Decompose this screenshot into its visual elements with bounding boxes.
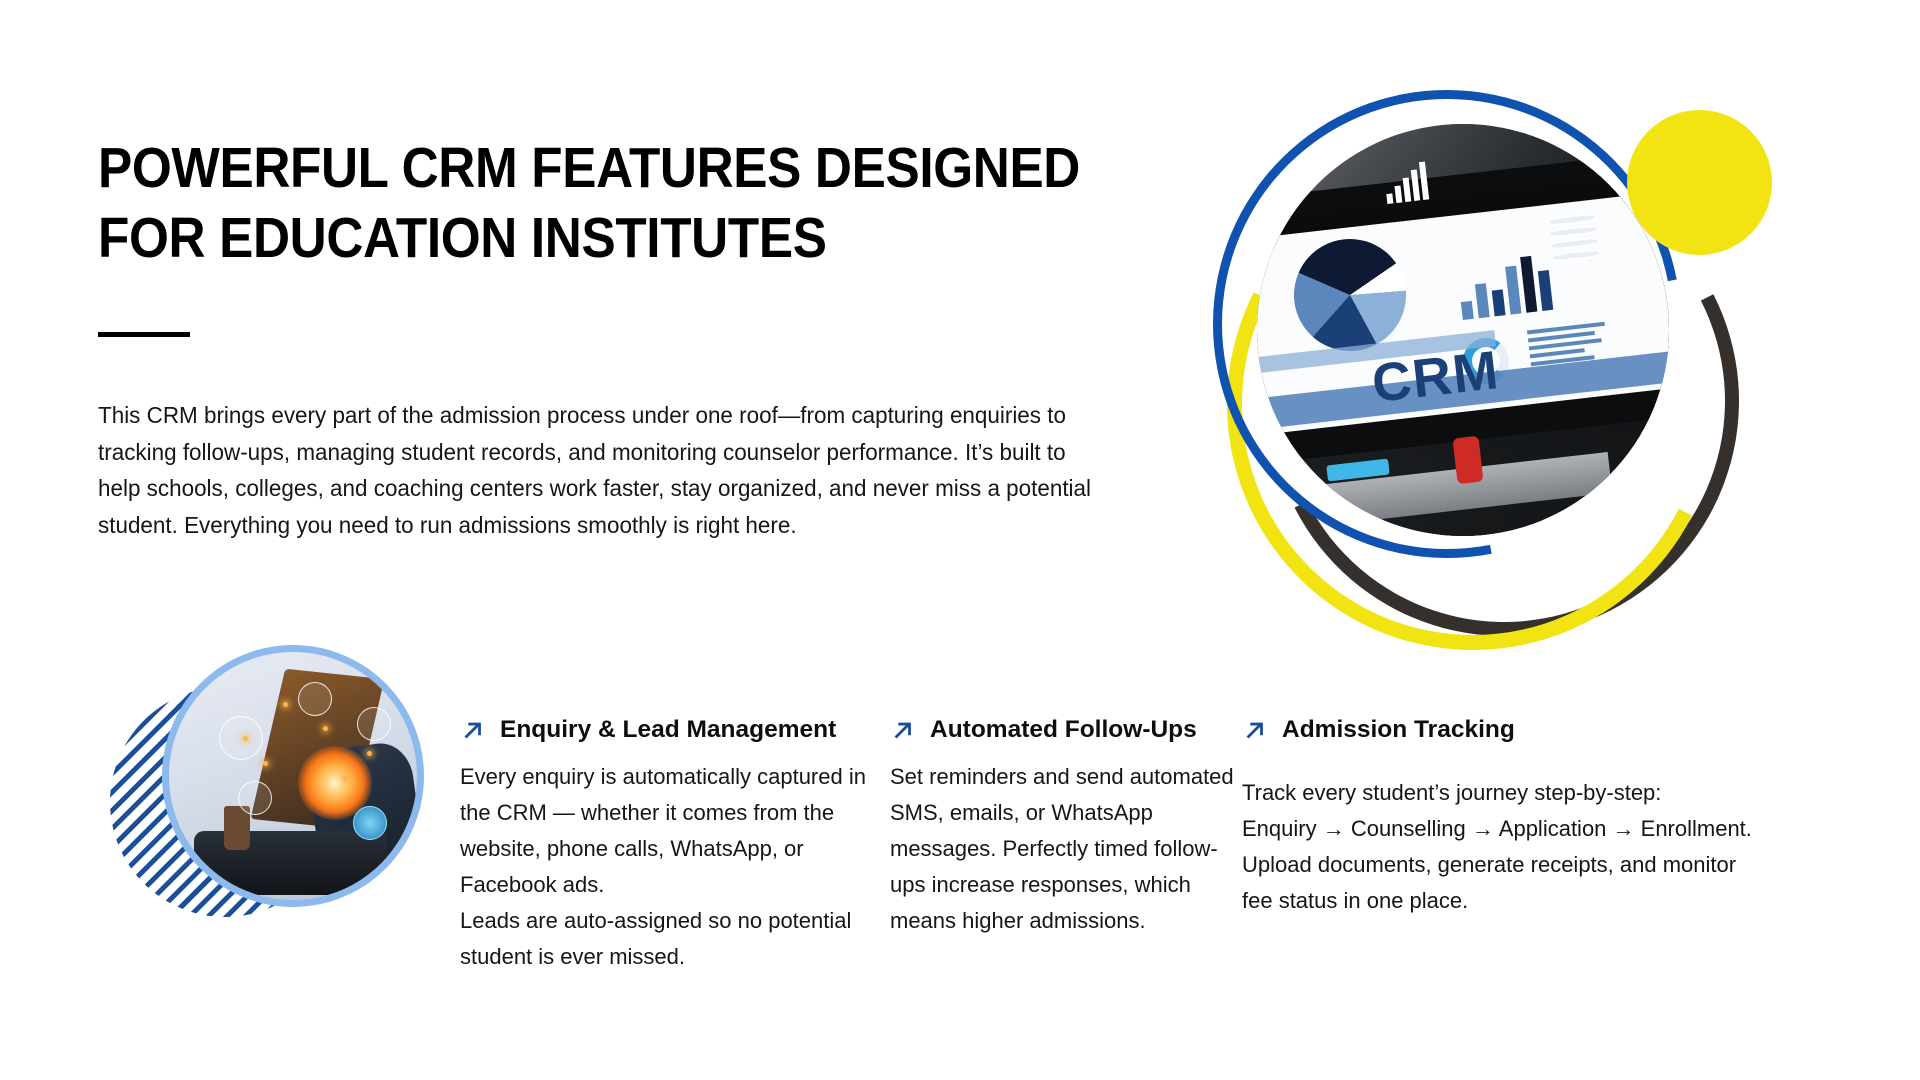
arrow-up-right-icon[interactable] [460, 717, 486, 743]
card-header: Enquiry & Lead Management [460, 715, 900, 745]
feature-card-admission-tracking[interactable]: Admission Tracking Track every student’s… [1242, 715, 1762, 919]
laptop [194, 831, 387, 895]
refresh-icon [357, 707, 391, 741]
hero-media: CRM [1195, 62, 1805, 662]
page-title: Powerful CRM Features Designed for Educa… [98, 133, 1160, 273]
feature-image [162, 645, 424, 907]
card-body: Every enquiry is automatically captured … [460, 759, 900, 975]
slide-canvas: Powerful CRM Features Designed for Educa… [0, 0, 1920, 1080]
title-divider [98, 332, 190, 337]
feature-card-automated-follow-ups[interactable]: Automated Follow-Ups Set reminders and s… [890, 715, 1240, 939]
card-title: Automated Follow-Ups [930, 715, 1197, 745]
cloud-upload-icon [353, 806, 387, 840]
growth-arrow-icon [1383, 158, 1443, 204]
arrow-up-right-icon[interactable] [890, 717, 916, 743]
data-cylinder-icon [1546, 212, 1603, 279]
feature-card-enquiry-lead-management[interactable]: Enquiry & Lead Management Every enquiry … [460, 715, 900, 975]
arrow-up-right-icon[interactable] [1242, 717, 1268, 743]
desk-object-red [1452, 436, 1483, 485]
card-header: Admission Tracking [1242, 715, 1762, 745]
card-title: Enquiry & Lead Management [500, 715, 836, 745]
feature-media [110, 645, 440, 945]
shield-lock-icon [298, 682, 332, 716]
card-body: Track every student’s journey step-by-st… [1242, 775, 1762, 919]
card-header: Automated Follow-Ups [890, 715, 1240, 745]
hero-image: CRM [1257, 124, 1669, 536]
hero-paragraph: This CRM brings every part of the admiss… [98, 397, 1110, 543]
card-body: Set reminders and send automated SMS, em… [890, 759, 1240, 939]
decor-yellow-circle [1627, 110, 1772, 255]
card-title: Admission Tracking [1282, 715, 1515, 745]
cloud-icon [219, 716, 263, 760]
